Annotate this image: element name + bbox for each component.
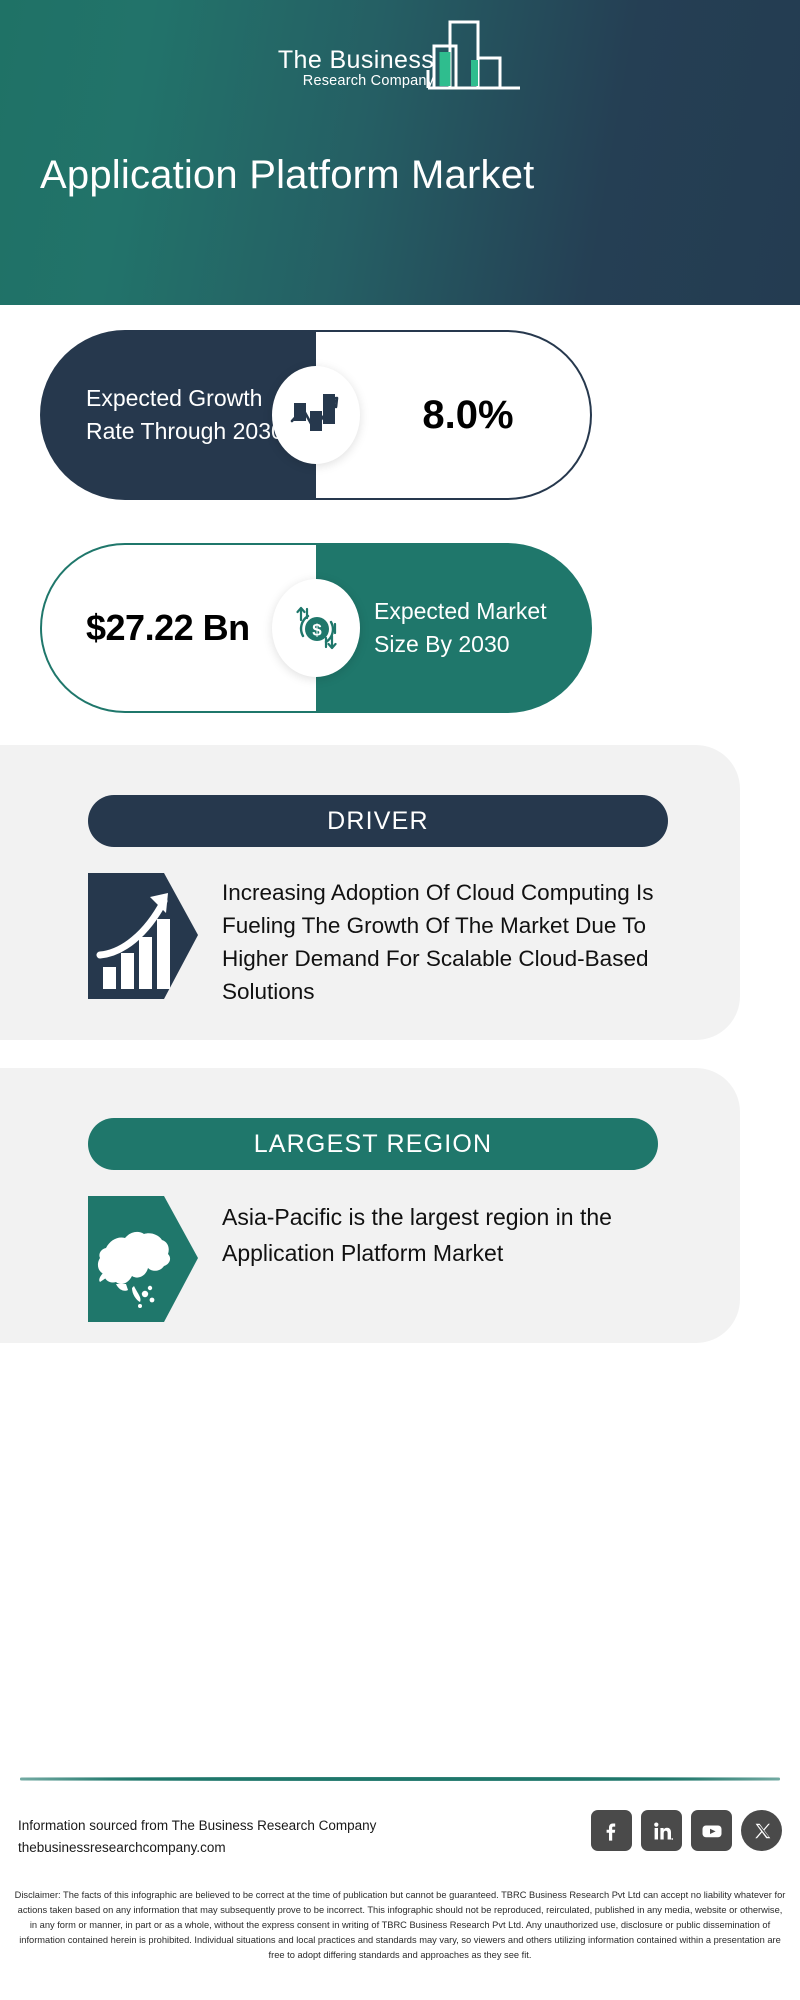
footer-website-url[interactable]: thebusinessresearchcompany.com — [18, 1837, 376, 1859]
panel-body: Asia-Pacific is the largest region in th… — [88, 1196, 708, 1328]
linkedin-icon[interactable] — [641, 1810, 682, 1851]
panel-text-driver: Increasing Adoption Of Cloud Computing I… — [222, 873, 708, 1008]
page-title: Application Platform Market — [40, 152, 534, 198]
header-banner: The Business Research Company — [0, 0, 800, 305]
panel-driver: DRIVER Increasing Adoption Of Cloud Comp… — [0, 745, 740, 1040]
footer-source: Information sourced from The Business Re… — [18, 1815, 376, 1858]
facebook-icon[interactable] — [591, 1810, 632, 1851]
svg-text:$: $ — [312, 621, 322, 640]
x-twitter-icon[interactable] — [741, 1810, 782, 1851]
company-logo: The Business Research Company — [0, 18, 800, 94]
bar-chart-growth-arrow-icon — [88, 873, 198, 1005]
growth-chart-arrow-icon — [272, 366, 360, 464]
infographic-page: The Business Research Company — [0, 0, 800, 2000]
social-links — [591, 1810, 782, 1851]
dollar-circular-arrows-icon: $ — [272, 579, 360, 677]
disclaimer-text: Disclaimer: The facts of this infographi… — [14, 1888, 786, 1963]
stat-card-growth-rate: Expected Growth Rate Through 2030 8.0% — [40, 330, 592, 500]
panel-body: Increasing Adoption Of Cloud Computing I… — [88, 873, 708, 1008]
logo-line-1: The Business — [278, 47, 434, 73]
panel-largest-region: LARGEST REGION Asia-Pacific is the large… — [0, 1068, 740, 1343]
youtube-icon[interactable] — [691, 1810, 732, 1851]
asia-pacific-map-icon — [88, 1196, 198, 1328]
stat-card-market-size: $27.22 Bn Expected Market Size By 2030 $ — [40, 543, 592, 713]
footer-divider — [20, 1777, 780, 1781]
logo-text-block: The Business Research Company — [278, 47, 434, 94]
logo-line-2: Research Company — [303, 74, 434, 90]
panel-heading-driver: DRIVER — [88, 795, 668, 847]
panel-heading-largest-region: LARGEST REGION — [88, 1118, 658, 1170]
footer-source-line-1: Information sourced from The Business Re… — [18, 1815, 376, 1837]
panel-text-largest-region: Asia-Pacific is the largest region in th… — [222, 1196, 708, 1271]
bar-chart-logo-mark — [426, 18, 522, 94]
